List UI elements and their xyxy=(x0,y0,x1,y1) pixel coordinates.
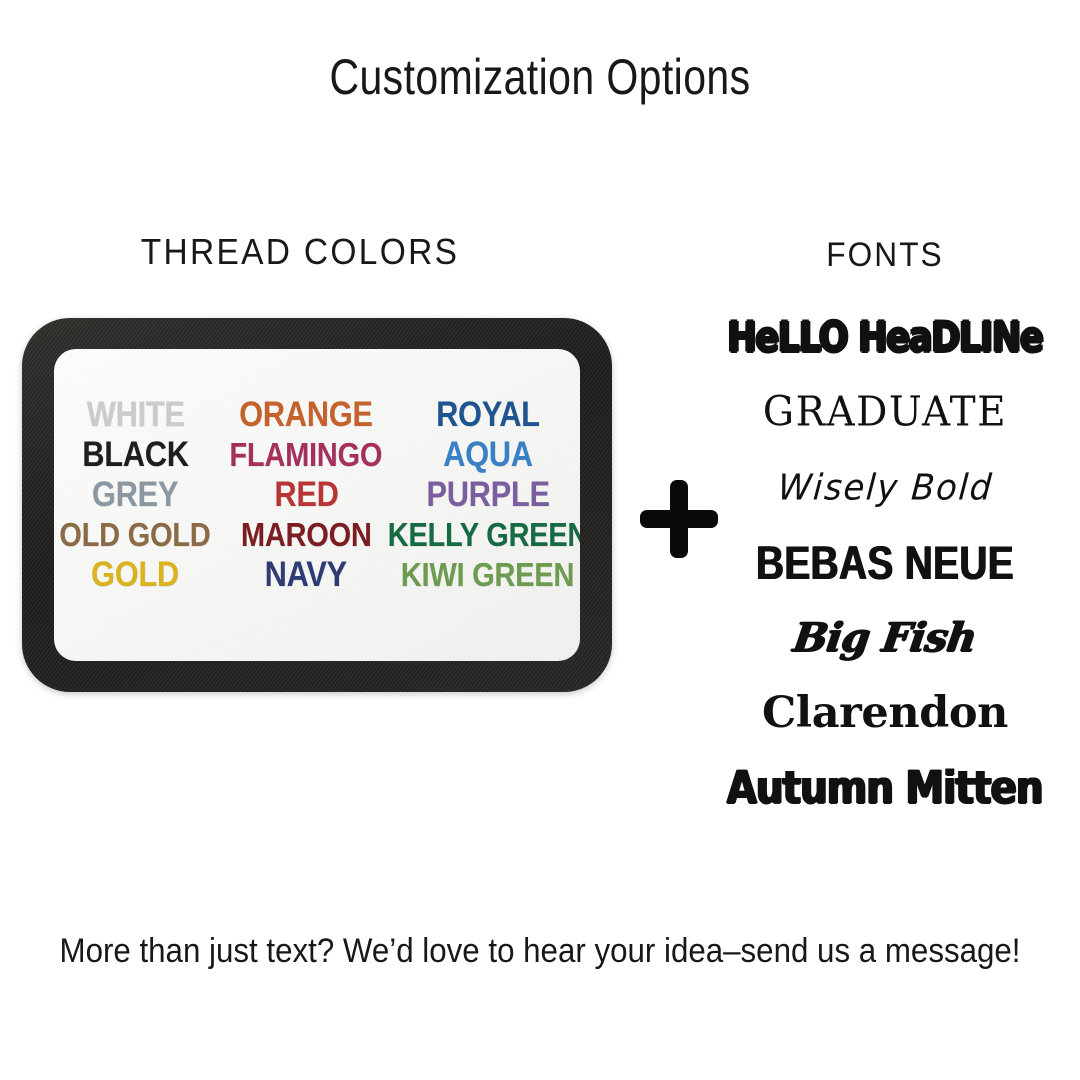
thread-color-swatch: KIWI GREEN xyxy=(401,555,574,595)
font-option: Clarendon xyxy=(700,675,1070,750)
thread-color-patch: WHITE BLACK GREY OLD GOLD GOLD ORANGE FL… xyxy=(22,318,612,692)
thread-color-grid: WHITE BLACK GREY OLD GOLD GOLD ORANGE FL… xyxy=(54,395,580,595)
thread-color-swatch: FLAMINGO xyxy=(230,435,383,475)
thread-color-swatch: NAVY xyxy=(265,555,347,595)
fonts-heading: FONTS xyxy=(713,236,1057,275)
thread-color-swatch: AQUA xyxy=(443,435,533,475)
thread-color-swatch: MAROON xyxy=(241,515,372,555)
thread-color-swatch: KELLY GREEN xyxy=(388,515,580,555)
font-options-list: HeLLO HeaDLINe GRADUATE Wisely Bold BEBA… xyxy=(700,300,1070,825)
font-option: Big Fish xyxy=(700,600,1070,675)
thread-color-swatch: GREY xyxy=(92,475,178,515)
font-option: HeLLO HeaDLINe xyxy=(700,300,1070,375)
thread-color-swatch: OLD GOLD xyxy=(60,515,211,555)
patch-fabric-area: WHITE BLACK GREY OLD GOLD GOLD ORANGE FL… xyxy=(54,349,580,661)
footer-note: More than just text? We’d love to hear y… xyxy=(43,932,1037,971)
font-option-label: Big Fish xyxy=(791,614,980,661)
thread-color-swatch: ROYAL xyxy=(436,395,540,435)
thread-colors-heading: THREAD COLORS xyxy=(77,231,523,273)
font-option-label: BEBAS NEUE xyxy=(756,535,1014,590)
font-option: BEBAS NEUE xyxy=(700,525,1070,600)
thread-color-swatch: ORANGE xyxy=(239,395,373,435)
font-option: Autumn Mitten xyxy=(700,750,1070,825)
font-option-label: GRADUATE xyxy=(763,389,1007,436)
thread-color-swatch: RED xyxy=(274,475,338,515)
font-option-label: HeLLO HeaDLINe xyxy=(727,313,1042,361)
thread-color-column-2: ORANGE FLAMINGO RED MAROON NAVY xyxy=(219,395,393,595)
font-option: GRADUATE xyxy=(700,375,1070,450)
page-title: Customization Options xyxy=(97,48,983,106)
thread-color-swatch: PURPLE xyxy=(426,475,549,515)
plus-icon-vertical-bar xyxy=(670,480,688,558)
thread-color-swatch: WHITE xyxy=(86,395,184,435)
thread-color-swatch: GOLD xyxy=(91,555,179,595)
font-option-label: Autumn Mitten xyxy=(727,761,1043,813)
font-option: Wisely Bold xyxy=(700,450,1070,525)
thread-color-column-1: WHITE BLACK GREY OLD GOLD GOLD xyxy=(54,395,219,595)
font-option-label: Clarendon xyxy=(762,688,1008,738)
font-option-label: Wisely Bold xyxy=(776,467,994,509)
thread-color-swatch: BLACK xyxy=(82,435,188,475)
thread-color-column-3: ROYAL AQUA PURPLE KELLY GREEN KIWI GREEN xyxy=(393,395,580,595)
